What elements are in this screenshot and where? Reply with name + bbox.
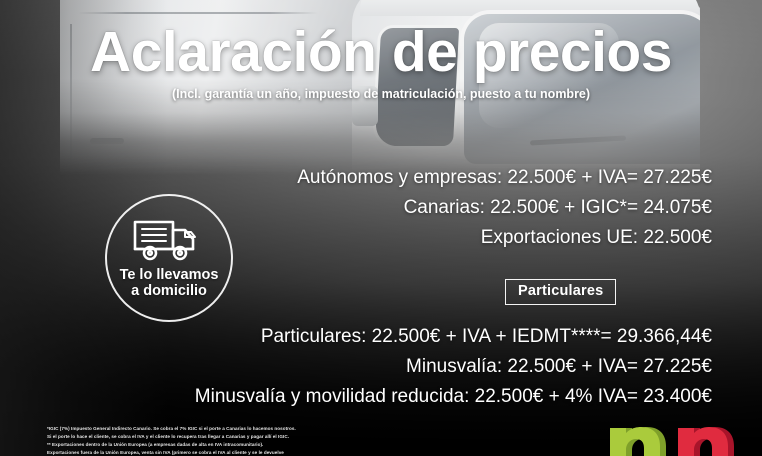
price-line: Autónomos y empresas: 22.500€ + IVA= 27.… <box>32 163 712 193</box>
price-clarification-poster: Aclaración de precios (Incl. garantía un… <box>0 0 762 456</box>
page-subtitle: (Incl. garantía un año, impuesto de matr… <box>0 87 762 101</box>
business-price-list: Autónomos y empresas: 22.500€ + IVA= 27.… <box>32 163 712 253</box>
badge-line-2: a domicilio <box>131 283 207 299</box>
page-title: Aclaración de precios <box>0 24 762 81</box>
price-line: Exportaciones UE: 22.500€ <box>32 223 712 253</box>
badge-line-1: Te lo llevamos <box>120 267 219 283</box>
headline-block: Aclaración de precios (Incl. garantía un… <box>0 24 762 101</box>
legal-fine-print: *IGIC (7%) Impuesto General Indirecto Ca… <box>47 425 467 456</box>
private-price-list: Particulares: 22.500€ + IVA + IEDMT****=… <box>12 322 712 412</box>
logo-green-n <box>610 427 666 456</box>
price-line: Minusvalía: 22.500€ + IVA= 27.225€ <box>12 352 712 382</box>
logo-red-n <box>678 427 734 456</box>
legal-line: Si el porte lo hace el cliente, se cobra… <box>47 433 467 441</box>
section-label-particulares: Particulares <box>505 279 616 305</box>
legal-line: ** Exportaciones dentro de la Unión Euro… <box>47 441 467 449</box>
price-line: Canarias: 22.500€ + IGIC*= 24.075€ <box>32 193 712 223</box>
legal-line: Exportaciones fuera de la Unión Europea,… <box>47 449 467 456</box>
price-line: Minusvalía y movilidad reducida: 22.500€… <box>12 382 712 412</box>
legal-line: *IGIC (7%) Impuesto General Indirecto Ca… <box>47 425 467 433</box>
price-line: Particulares: 22.500€ + IVA + IEDMT****=… <box>12 322 712 352</box>
nn-brand-logo <box>608 410 762 456</box>
